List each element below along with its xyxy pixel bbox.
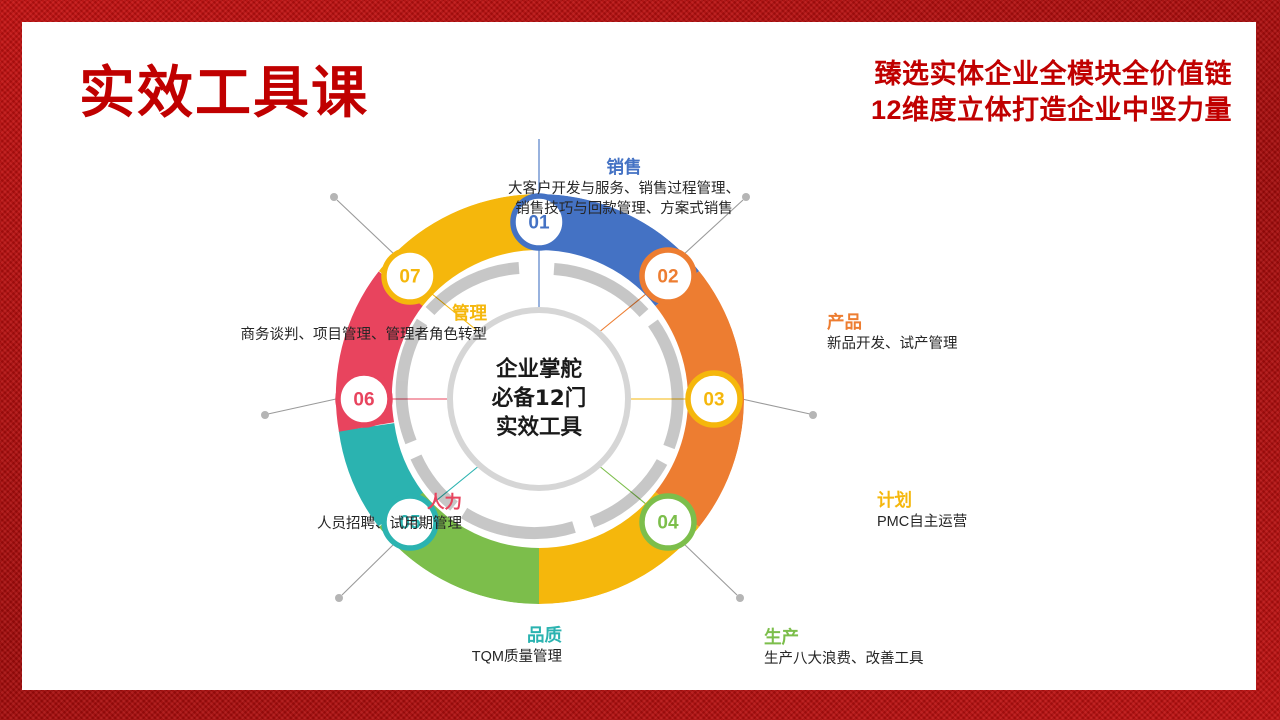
- leader-dot-07: [330, 193, 338, 201]
- leader-dot-03: [809, 411, 817, 419]
- callout-07-title: 管理: [92, 303, 487, 325]
- node-03[interactable]: 03: [688, 373, 740, 425]
- leader-line-05: [342, 543, 395, 595]
- callout-02-title: 产品: [827, 312, 1157, 334]
- callout-03-desc-line-1: PMC自主运营: [877, 512, 1177, 533]
- leader-dot-06: [261, 411, 269, 419]
- segment-shadow-04: [464, 513, 574, 533]
- node-02-label: 02: [657, 267, 678, 288]
- callout-04-title: 生产: [764, 627, 1084, 649]
- callout-04-desc-line-1: 生产八大浪费、改善工具: [764, 649, 1084, 670]
- leader-dot-04: [736, 594, 744, 602]
- leader-line-06: [268, 399, 336, 414]
- callout-05-title: 品质: [202, 625, 562, 647]
- node-07-label: 07: [399, 267, 420, 288]
- callout-01: 销售 大客户开发与服务、销售过程管理、 销售技巧与回款管理、方案式销售: [414, 157, 834, 220]
- center-line-1: 企业掌舵: [496, 356, 583, 382]
- callout-06-desc-line-1: 人员招聘、试用期管理: [112, 514, 462, 535]
- callout-03: 计划 PMC自主运营: [877, 490, 1177, 532]
- callout-02-desc-line-1: 新品开发、试产管理: [827, 334, 1157, 355]
- slide-canvas: 实效工具课 臻选实体企业全模块全价值链 12维度立体打造企业中坚力量: [22, 22, 1256, 690]
- leader-dot-05: [335, 594, 343, 602]
- callout-01-desc-line-2: 销售技巧与回款管理、方案式销售: [414, 199, 834, 220]
- node-07[interactable]: 07: [384, 250, 436, 302]
- callout-01-desc-line-1: 大客户开发与服务、销售过程管理、: [414, 179, 834, 200]
- slide-background: 实效工具课 臻选实体企业全模块全价值链 12维度立体打造企业中坚力量: [0, 0, 1280, 720]
- callout-03-title: 计划: [877, 490, 1177, 512]
- node-02[interactable]: 02: [642, 250, 694, 302]
- node-06[interactable]: 06: [338, 373, 390, 425]
- callout-05-desc-line-1: TQM质量管理: [202, 647, 562, 668]
- node-04-label: 04: [657, 513, 679, 534]
- leader-line-07: [337, 200, 395, 255]
- segment-shadow-02: [653, 323, 678, 447]
- callout-07: 管理 商务谈判、项目管理、管理者角色转型: [92, 303, 487, 345]
- callout-05: 品质 TQM质量管理: [202, 625, 562, 667]
- callout-02: 产品 新品开发、试产管理: [827, 312, 1157, 354]
- node-03-label: 03: [703, 390, 724, 411]
- node-06-label: 06: [353, 390, 374, 411]
- callout-06: 人力 人员招聘、试用期管理: [112, 492, 462, 534]
- callout-01-title: 销售: [414, 157, 834, 179]
- center-line-3: 实效工具: [496, 414, 583, 440]
- center-line-2: 必备12门: [492, 385, 586, 411]
- callout-06-title: 人力: [112, 492, 462, 514]
- node-04[interactable]: 04: [642, 496, 694, 548]
- cycle-diagram: 企业掌舵 必备12门 实效工具 01 02 03: [22, 22, 1256, 690]
- leader-line-04: [683, 543, 737, 595]
- leader-line-03: [742, 399, 810, 414]
- callout-04: 生产 生产八大浪费、改善工具: [764, 627, 1084, 669]
- callout-07-desc-line-1: 商务谈判、项目管理、管理者角色转型: [92, 325, 487, 346]
